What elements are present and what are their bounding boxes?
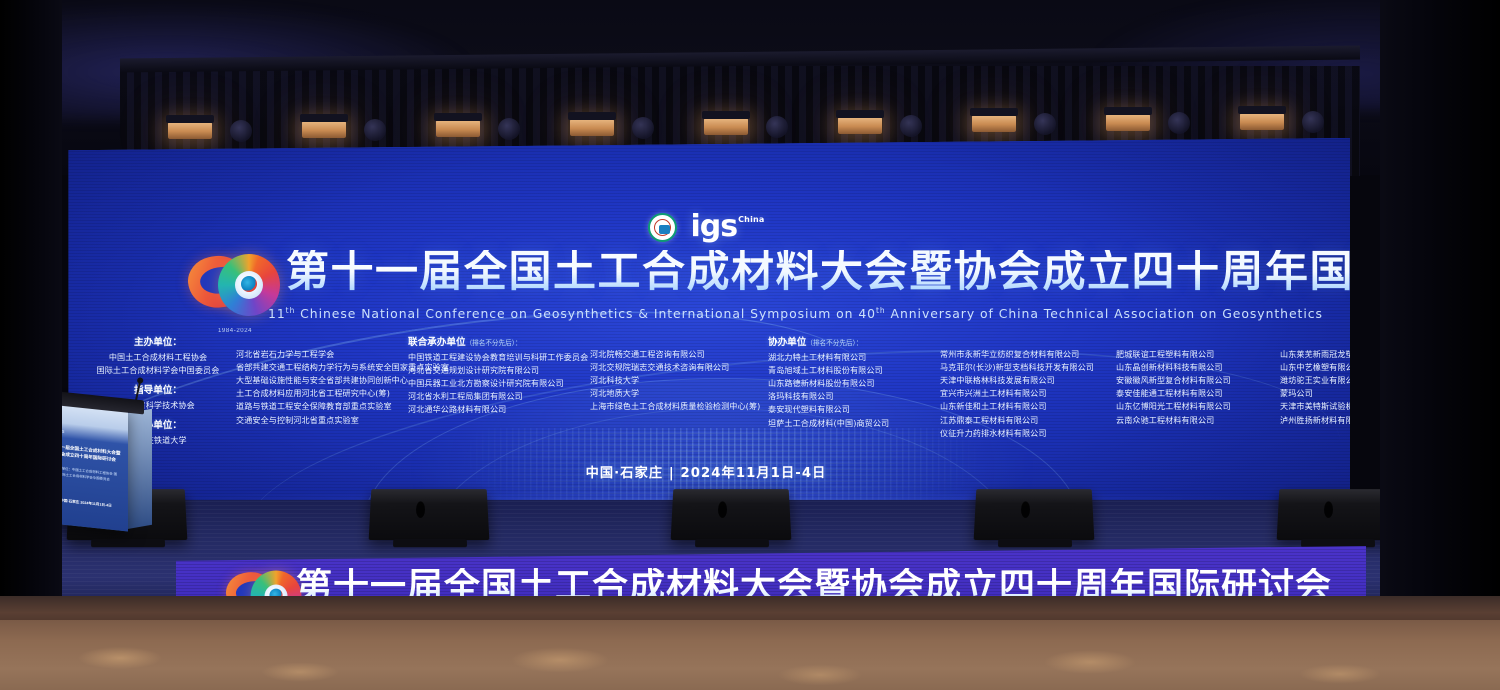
en-title-tail: Anniversary of China Technical Associati…: [886, 306, 1323, 321]
organizer-item: 河北省交通规划设计研究院有限公司: [408, 364, 590, 377]
organizer-column-supporting-labs: 河北省岩石力学与工程学会省部共建交通工程结构力学行为与系统安全国家重点实验室大型…: [236, 334, 408, 427]
stage-light: [570, 119, 614, 136]
organizer-item: 河北省水利工程局集团有限公司: [408, 390, 590, 403]
stage-light: [1106, 114, 1150, 131]
igs-logo-row: igsChina: [62, 212, 1350, 242]
organizer-item: 河北科技大学: [590, 374, 768, 387]
podium-side-panel: [126, 409, 152, 530]
stage-light: [704, 118, 748, 135]
organizer-heading: 协办单位（排名不分先后）：: [768, 334, 940, 348]
monitor-stand: [91, 539, 165, 547]
monitor-stand: [695, 539, 769, 547]
organizer-item: 山东路德新材料股份有限公司: [768, 377, 940, 390]
organizer-item: 坦萨土工合成材料(中国)商贸公司: [768, 417, 940, 430]
organizer-heading-note: （排名不分先后）：: [806, 339, 862, 347]
organizer-item: 泰安现代塑料有限公司: [768, 403, 940, 416]
organizer-item: 宜兴市兴洲土工材料有限公司: [940, 387, 1116, 400]
banner-title-english: 11th Chinese National Conference on Geos…: [268, 306, 1350, 321]
organizer-heading-spacer: [940, 334, 1116, 345]
organizer-item: 土工合成材料应用河北省工程研究中心(筹): [236, 387, 408, 400]
organizer-item: 山东莱芜新雨冠龙塑料机械有限公司: [1280, 348, 1350, 361]
organizer-item: 大型基础设施性能与安全省部共建协同创新中心: [236, 374, 408, 387]
organizer-item: 山东新佳和土工材料有限公司: [940, 400, 1116, 413]
stage-light-disc: [632, 117, 654, 139]
curtain-left: [0, 0, 62, 690]
organizer-column-sponsors-2: 常州市永新华立纺织复合材料有限公司马克菲尔(长沙)新型支档科技开发有限公司天津中…: [940, 334, 1116, 440]
stage-light: [436, 120, 480, 137]
organizer-item: 潍坊驼王实业有限公司: [1280, 374, 1350, 387]
organizer-item: 蒙玛公司: [1280, 387, 1350, 400]
organizer-heading: 联合承办单位（排名不分先后）：: [408, 334, 590, 348]
monitor-stand: [393, 539, 467, 547]
organizer-item: 交通安全与控制河北省重点实验室: [236, 414, 408, 427]
stage-monitor-speaker: [974, 489, 1095, 540]
stage-light-disc: [498, 118, 520, 140]
stage-light: [838, 117, 882, 134]
organizer-item: 省部共建交通工程结构力学行为与系统安全国家重点实验室: [236, 361, 408, 374]
organizer-heading-spacer: [1116, 334, 1280, 345]
organizer-item: 河北地质大学: [590, 387, 768, 400]
organizer-heading-spacer: [1280, 334, 1350, 345]
organizer-item: 天津中联格林科技发展有限公司: [940, 374, 1116, 387]
igs-superscript-china: China: [738, 215, 764, 224]
organizer-item: 肥城联谊工程塑料有限公司: [1116, 348, 1280, 361]
organizer-item: 中国土工合成材料工程协会: [84, 351, 232, 364]
organizer-item: 中国兵器工业北方勘察设计研究院有限公司: [408, 377, 590, 390]
venue-date-line: 中国·石家庄 | 2024年11月1日-4日: [62, 462, 1350, 481]
organizer-item: 江苏鼎泰工程材料有限公司: [940, 414, 1116, 427]
organizer-item: 天津市美特斯试验机厂: [1280, 400, 1350, 413]
organizer-item: 泸州胜扬新材料有限公司: [1280, 414, 1350, 427]
organizer-item: 常州市永新华立纺织复合材料有限公司: [940, 348, 1116, 361]
igs-word-text: igs: [690, 209, 737, 244]
led-wall-screen: igsChina 1984-2024 第十一届全国土工合成材料大会暨协会成立四十…: [62, 138, 1350, 548]
curtain-right: [1380, 0, 1500, 690]
stage-light: [1240, 113, 1284, 130]
organizer-item: 上海市绿色土工合成材料质量检验检测中心(筹): [590, 400, 768, 413]
en-title-sup2: th: [876, 306, 886, 315]
organizer-column-co-organizers-2: 河北院畅交通工程咨询有限公司河北交规院瑞志交通技术咨询有限公司河北科技大学河北地…: [590, 334, 768, 414]
organizer-item: 湖北力特土工材料有限公司: [768, 351, 940, 364]
organizer-item: 河北省岩石力学与工程学会: [236, 348, 408, 361]
organizer-column-sponsors-3: 肥城联谊工程塑料有限公司山东晶创新材料科技有限公司安徽徽风新型复合材料有限公司泰…: [1116, 334, 1280, 427]
stage-light-disc: [766, 116, 788, 138]
organizer-item: 山东晶创新材料科技有限公司: [1116, 361, 1280, 374]
organizer-columns: 主办单位：中国土工合成材料工程协会国际土工合成材料学会中国委员会指导单位：河北省…: [84, 334, 1336, 452]
organizer-item: 河北交规院瑞志交通技术咨询有限公司: [590, 361, 768, 374]
organizer-column-co-organizers: 联合承办单位（排名不分先后）：中国铁道工程建设协会教育培训与科研工作委员会河北省…: [408, 334, 590, 417]
organizer-item: 道路与铁道工程安全保障教育部重点实验室: [236, 400, 408, 413]
organizer-column-sponsors: 协办单位（排名不分先后）：湖北力特土工材料有限公司青岛旭域土工材料股份有限公司山…: [768, 334, 940, 430]
organizer-group: 主办单位：中国土工合成材料工程协会国际土工合成材料学会中国委员会: [84, 334, 232, 377]
monitor-stand: [1301, 539, 1375, 547]
stage-light-disc: [364, 119, 386, 141]
organizer-item: 青岛旭域土工材料股份有限公司: [768, 364, 940, 377]
stage-light-disc: [230, 120, 252, 142]
en-title-num1: 11: [268, 306, 286, 321]
stage-monitor-speaker: [369, 489, 490, 540]
organizer-item: 中国铁道工程建设协会教育培训与科研工作委员会: [408, 351, 590, 364]
foreground-carpet: [0, 620, 1500, 690]
en-title-mid: Chinese National Conference on Geosynthe…: [295, 306, 876, 321]
organizer-item: 山东亿博阳光工程材料有限公司: [1116, 400, 1280, 413]
organizer-item: 云南众驰工程材料有限公司: [1116, 414, 1280, 427]
stage-light-disc: [900, 115, 922, 137]
igs-china-emblem-icon: [648, 213, 677, 242]
monitor-stand: [998, 539, 1072, 547]
stage-light: [302, 121, 346, 138]
igs-wordmark: igsChina: [690, 212, 763, 242]
organizer-item: 仪征升力药排水材料有限公司: [940, 427, 1116, 440]
en-title-sup1: th: [286, 306, 296, 315]
stage-light: [168, 122, 212, 139]
organizer-heading-note: （排名不分先后）：: [466, 339, 522, 347]
organizer-item: 安徽徽风新型复合材料有限公司: [1116, 374, 1280, 387]
stage-monitor-speaker: [671, 489, 792, 540]
organizer-heading: 主办单位：: [84, 334, 232, 348]
organizer-heading-spacer: [236, 334, 408, 345]
organizer-heading-spacer: [590, 334, 768, 345]
organizer-item: 马克菲尔(长沙)新型支档科技开发有限公司: [940, 361, 1116, 374]
organizer-item: 山东中艺橡塑有限公司: [1280, 361, 1350, 374]
organizer-item: 河北通华公路材料有限公司: [408, 403, 590, 416]
organizer-item: 国际土工合成材料学会中国委员会: [84, 364, 232, 377]
organizer-item: 泰安佳能通工程材料有限公司: [1116, 387, 1280, 400]
organizer-item: 洛玛科技有限公司: [768, 390, 940, 403]
organizer-item: 河北院畅交通工程咨询有限公司: [590, 348, 768, 361]
conference-stage-scene: igsChina 1984-2024 第十一届全国土工合成材料大会暨协会成立四十…: [0, 0, 1500, 690]
banner-title-chinese: 第十一届全国土工合成材料大会暨协会成立四十周年国际研讨会: [286, 250, 1350, 295]
organizer-column-sponsors-4: 山东莱芜新雨冠龙塑料机械有限公司山东中艺橡塑有限公司潍坊驼王实业有限公司蒙玛公司…: [1280, 334, 1350, 427]
stage-light: [972, 115, 1016, 132]
